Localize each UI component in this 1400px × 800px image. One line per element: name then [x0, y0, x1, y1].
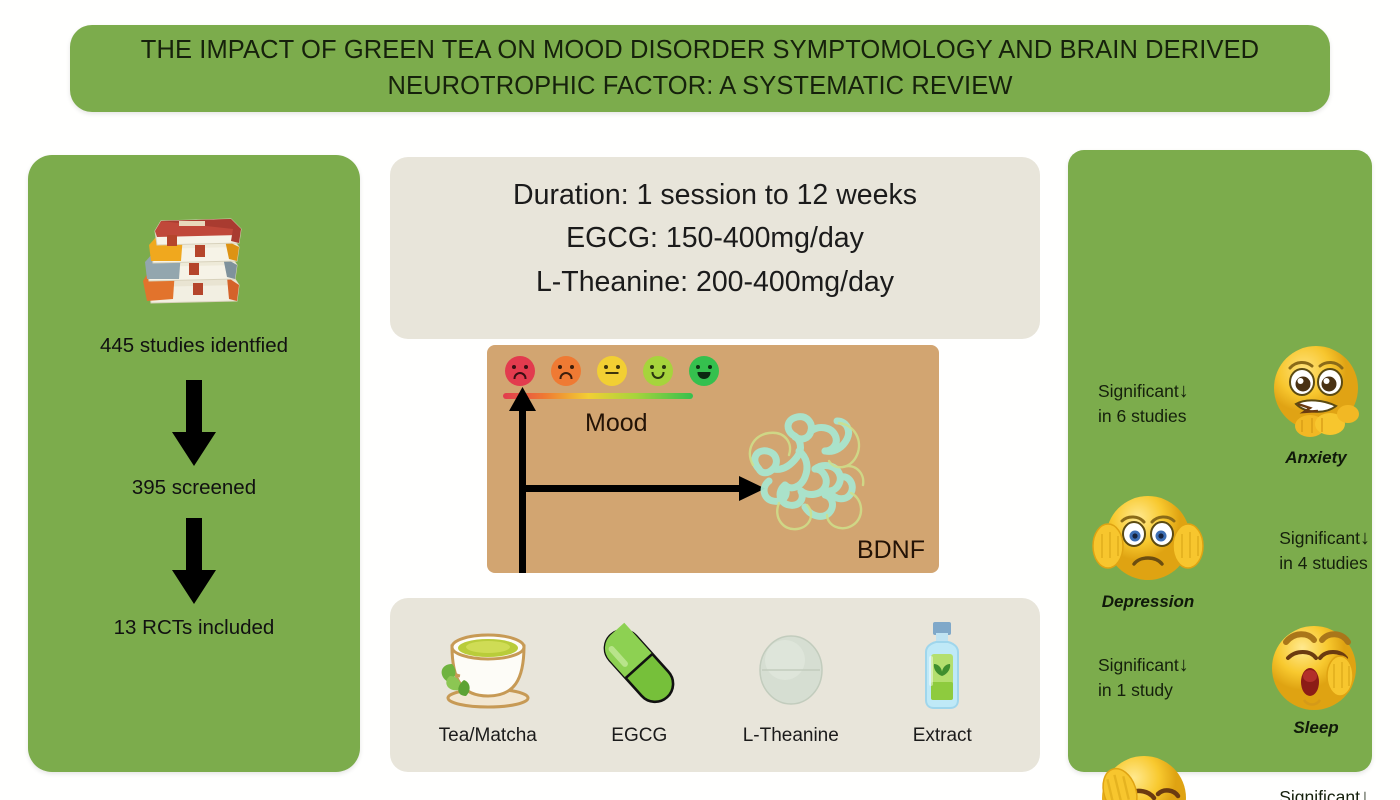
- down-arrow-icon: ↓: [1360, 786, 1370, 800]
- intervention-label: Extract: [913, 725, 972, 747]
- outcome-name: Sleep: [1293, 718, 1338, 738]
- outcome-stat-line1: Significant: [1098, 381, 1179, 401]
- outcome-stat-line1: Significant: [1098, 655, 1179, 675]
- outcome-stat-line2: in 1 study: [1098, 680, 1173, 700]
- outcomes-panel: Anxiety Significant↓ in 6 studies: [1068, 150, 1372, 772]
- graphical-abstract: THE IMPACT OF GREEN TEA ON MOOD DISORDER…: [0, 0, 1400, 800]
- outcome-stat: Significant↓ in 1 study: [1098, 652, 1189, 702]
- dose-egcg: EGCG: 150-400mg/day: [566, 218, 864, 259]
- intervention-egcg: EGCG: [564, 620, 714, 747]
- outcome-stress: Stress Significant↓ in 5 studies: [1080, 748, 1384, 800]
- interventions-panel: Tea/Matcha EGCG: [390, 598, 1040, 772]
- dose-duration: Duration: 1 session to 12 weeks: [513, 175, 917, 216]
- flow-step-identified: 445 studies identfied: [100, 334, 288, 358]
- outcome-name: Anxiety: [1285, 448, 1346, 468]
- intervention-label: L-Theanine: [743, 725, 839, 747]
- sad-face-hands-icon: [1092, 488, 1204, 590]
- intervention-extract: Extract: [867, 620, 1017, 747]
- flow-arrow-1-icon: [166, 380, 222, 468]
- outcome-sleep: Sleep Significant↓ in 1 study: [1080, 616, 1384, 738]
- outcome-stat-line2: in 6 studies: [1098, 406, 1187, 426]
- down-arrow-icon: ↓: [1179, 654, 1189, 676]
- outcome-depression: Depression Significant↓ in 4 studies: [1080, 488, 1384, 612]
- anxious-face-icon: [1262, 338, 1370, 446]
- down-arrow-icon: ↓: [1360, 527, 1370, 549]
- outcome-stat: Significant↓ in 4 studies: [1279, 525, 1370, 575]
- bottle-icon: [906, 620, 978, 712]
- dose-ltheanine: L-Theanine: 200-400mg/day: [536, 262, 894, 303]
- outcome-stat-line2: in 4 studies: [1279, 553, 1368, 573]
- capsule-icon: [593, 620, 685, 712]
- outcome-stat: Significant↓ in 6 studies: [1098, 378, 1189, 428]
- intervention-label: Tea/Matcha: [439, 725, 537, 747]
- intervention-label: EGCG: [611, 725, 667, 747]
- pill-icon: [749, 620, 833, 712]
- bdnf-label: BDNF: [857, 536, 925, 565]
- flow-step-included: 13 RCTs included: [114, 616, 275, 640]
- sleepy-yawn-icon: [1264, 616, 1368, 716]
- title-banner: THE IMPACT OF GREEN TEA ON MOOD DISORDER…: [70, 25, 1330, 112]
- outcome-anxiety: Anxiety Significant↓ in 6 studies: [1080, 338, 1384, 468]
- outcome-stat-line1: Significant: [1279, 528, 1360, 548]
- mood-label: Mood: [585, 409, 648, 438]
- dosing-panel: Duration: 1 session to 12 weeks EGCG: 15…: [390, 157, 1040, 339]
- outcome-stat: Significant↓ in 5 studies: [1279, 784, 1370, 800]
- outcome-stat-line1: Significant: [1279, 787, 1360, 800]
- stressed-face-icon: [1092, 748, 1198, 800]
- intervention-tea-matcha: Tea/Matcha: [413, 620, 563, 747]
- stack-of-books-icon: [135, 213, 253, 316]
- flow-arrow-2-icon: [166, 518, 222, 606]
- flow-step-screened: 395 screened: [132, 476, 256, 500]
- study-selection-panel: 445 studies identfied 395 screened 13 RC…: [28, 155, 360, 772]
- intervention-ltheanine: L-Theanine: [716, 620, 866, 747]
- down-arrow-icon: ↓: [1179, 380, 1189, 402]
- bdnf-protein-icon: [739, 407, 889, 552]
- page-title: THE IMPACT OF GREEN TEA ON MOOD DISORDER…: [70, 33, 1330, 103]
- mechanism-panel: Mood BDNF: [487, 345, 939, 573]
- outcome-name: Depression: [1102, 592, 1195, 612]
- teacup-icon: [436, 620, 540, 712]
